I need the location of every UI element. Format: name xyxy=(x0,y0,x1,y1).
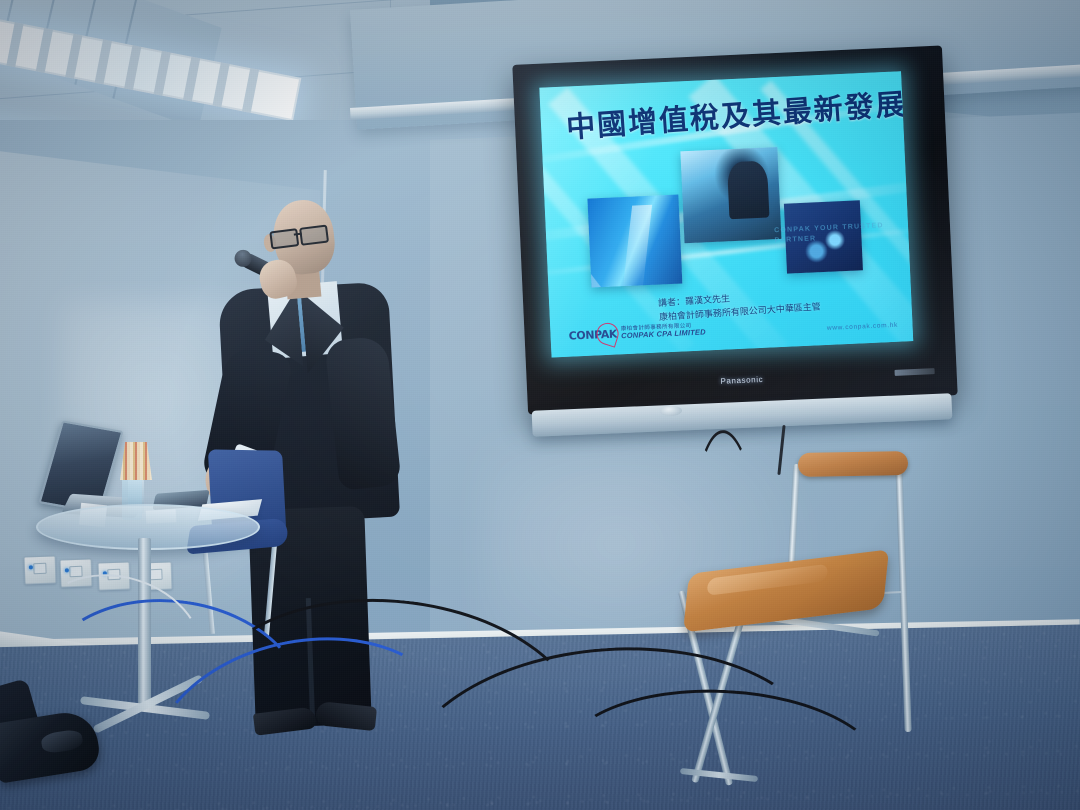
presentation-room-photo: 中國增值稅及其最新發展 CONPAK YOUR TRUSTED PARTNER … xyxy=(0,0,1080,810)
stool-backrest-pad xyxy=(798,451,908,477)
stool-back-leg-right xyxy=(895,464,911,732)
conpak-company-en: CONPAK CPA LIMITED xyxy=(621,329,706,341)
slide-tagline: CONPAK YOUR TRUSTED PARTNER xyxy=(774,220,891,246)
conpak-swash-icon xyxy=(594,320,622,348)
presentation-slide: 中國增值稅及其最新發展 CONPAK YOUR TRUSTED PARTNER … xyxy=(539,71,913,357)
conpak-logo-wordmark: 康柏會計師事務所有限公司 CONPAK CPA LIMITED xyxy=(621,322,706,340)
display-screen: 中國增值稅及其最新發展 CONPAK YOUR TRUSTED PARTNER … xyxy=(539,71,913,357)
slide-image-businessman xyxy=(680,147,782,243)
table-lamp-shade xyxy=(120,442,152,480)
wall-mounted-display[interactable]: 中國增值稅及其最新發展 CONPAK YOUR TRUSTED PARTNER … xyxy=(512,45,957,414)
conpak-logo-mark: CONPAK xyxy=(568,327,617,342)
slide-image-skyscraper xyxy=(588,195,682,288)
